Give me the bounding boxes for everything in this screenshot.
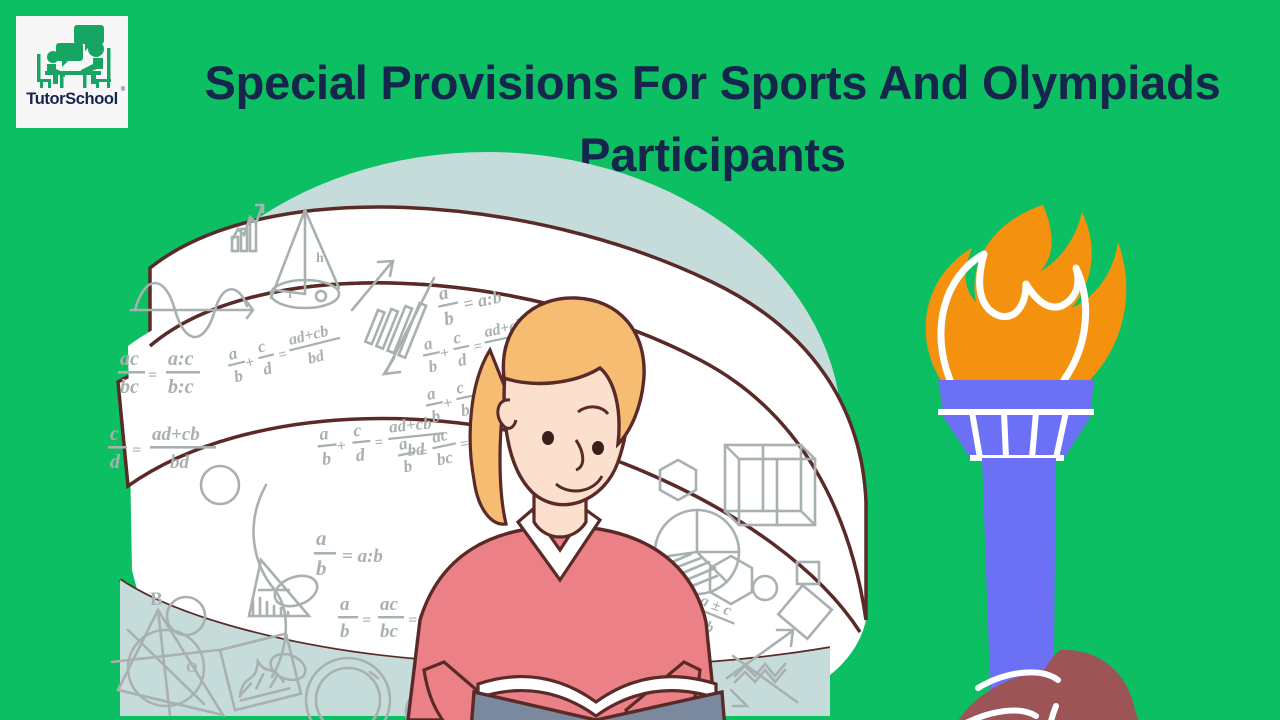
svg-text:=: = <box>132 442 141 459</box>
svg-text:bc: bc <box>380 621 399 642</box>
svg-text:bd: bd <box>407 439 426 460</box>
svg-text:a: a <box>316 526 327 550</box>
svg-text:=: = <box>408 612 417 629</box>
svg-text:=: = <box>374 434 384 451</box>
label-O: O <box>186 660 198 676</box>
svg-text:=: = <box>362 612 371 629</box>
gripping-hand <box>942 650 1164 720</box>
registered-trademark-symbol: ® <box>121 87 125 93</box>
logo-name-text: TutorSchool <box>26 90 118 108</box>
label-B: B <box>150 589 163 610</box>
svg-text:b:c: b:c <box>168 376 194 398</box>
eye <box>542 431 554 445</box>
svg-text:= a:b: = a:b <box>342 546 383 567</box>
svg-text:a:c: a:c <box>168 348 194 370</box>
svg-text:ac: ac <box>380 594 399 615</box>
svg-text:c: c <box>110 423 119 445</box>
hero-illustration: a b = a:b a b + c d = ad+cb bd a <box>0 150 1280 720</box>
svg-text:d: d <box>110 451 121 473</box>
svg-text:ad+cb: ad+cb <box>152 424 200 445</box>
tutorschool-logo[interactable]: TutorSchool® <box>16 16 128 128</box>
eye <box>592 441 604 455</box>
svg-text:bd: bd <box>170 452 190 473</box>
svg-text:b: b <box>340 621 350 642</box>
logo-wordmark: TutorSchool® <box>26 90 118 109</box>
svg-text:a: a <box>340 594 350 615</box>
svg-text:+: + <box>336 437 347 455</box>
promotional-banner: TutorSchool® Special Provisions For Spor… <box>0 0 1280 720</box>
svg-text:=: = <box>148 367 157 384</box>
svg-text:ac: ac <box>120 348 139 370</box>
svg-text:bc: bc <box>120 376 139 398</box>
label-h: h <box>316 251 324 266</box>
olympic-torch <box>926 205 1164 720</box>
torch-bowl <box>938 380 1094 458</box>
label-r: r <box>288 286 294 301</box>
two-people-at-table-with-speech-bubbles-icon <box>29 23 115 89</box>
svg-text:b: b <box>316 556 327 580</box>
